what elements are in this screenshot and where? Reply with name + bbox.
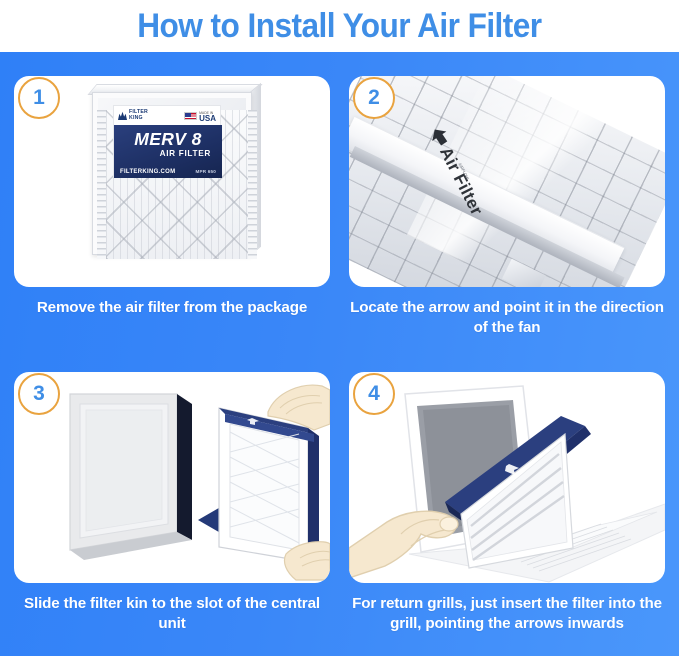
step-4-caption: For return grills, just insert the filte… <box>349 594 665 633</box>
made-in-usa-badge: MADE IN USA <box>184 111 216 121</box>
website-label: FILTERKING.COM <box>120 169 175 175</box>
product-type-label: AIR FILTER <box>121 149 215 159</box>
step-4-illustration <box>349 372 665 583</box>
filter-corner-photo: Air Filter AIRFLOW <box>349 76 665 287</box>
step-4-card: 4 <box>349 372 665 583</box>
steps-grid: 1 <box>14 76 665 648</box>
brand-name: FILTER KING <box>129 110 148 121</box>
step-1-illustration: FILTER KING MADE IN <box>14 76 330 287</box>
filter-front-face: FILTER KING MADE IN <box>92 92 252 255</box>
filter-pleat-right <box>248 110 257 259</box>
infographic-root: How to Install Your Air Filter 1 <box>0 0 679 656</box>
page-title: How to Install Your Air Filter <box>137 8 541 44</box>
step-2-card: 2 Air Filter AIRFLOW <box>349 76 665 287</box>
step-3-number-badge: 3 <box>18 373 60 415</box>
step-2-illustration: Air Filter AIRFLOW <box>349 76 665 287</box>
central-unit-housing <box>70 394 192 560</box>
product-label-header: FILTER KING MADE IN <box>114 106 220 125</box>
product-label-footer: FILTERKING.COM MPR 650 <box>114 169 222 175</box>
step-4-number-badge: 4 <box>353 373 395 415</box>
step-2-number-badge: 2 <box>353 77 395 119</box>
product-label-body: MERV 8 AIR FILTER FILTERKING.COM MPR 650 <box>114 125 222 178</box>
merv-rating: MERV 8 <box>121 130 215 149</box>
country-label: USA <box>199 116 216 121</box>
step-3: 3 <box>14 372 330 648</box>
step-3-caption: Slide the filter kin to the slot of the … <box>14 594 330 633</box>
product-label: FILTER KING MADE IN <box>113 105 221 177</box>
step-2-caption: Locate the arrow and point it in the dir… <box>349 298 665 337</box>
air-filter-product-photo: FILTER KING MADE IN <box>86 82 262 264</box>
step-1-caption: Remove the air filter from the package <box>14 298 330 318</box>
filter-pleat-left <box>97 110 106 259</box>
step-3-illustration <box>14 372 330 583</box>
step-3-card: 3 <box>14 372 330 583</box>
filter-king-logo: FILTER KING <box>118 110 148 121</box>
step-1-number-badge: 1 <box>18 77 60 119</box>
step-2: 2 Air Filter AIRFLOW <box>349 76 665 352</box>
made-in-usa-text: MADE IN USA <box>199 111 216 121</box>
usa-flag-icon <box>184 112 197 120</box>
step-1-card: 1 <box>14 76 330 287</box>
header: How to Install Your Air Filter <box>0 0 679 52</box>
step-1: 1 <box>14 76 330 352</box>
return-grill-svg <box>349 372 665 583</box>
mpr-rating-label: MPR 650 <box>195 169 216 174</box>
steps-background: 1 <box>0 52 679 656</box>
step-4: 4 <box>349 372 665 648</box>
slide-filter-svg <box>14 372 330 583</box>
crown-icon <box>118 111 127 120</box>
brand-line-2: KING <box>129 115 143 121</box>
